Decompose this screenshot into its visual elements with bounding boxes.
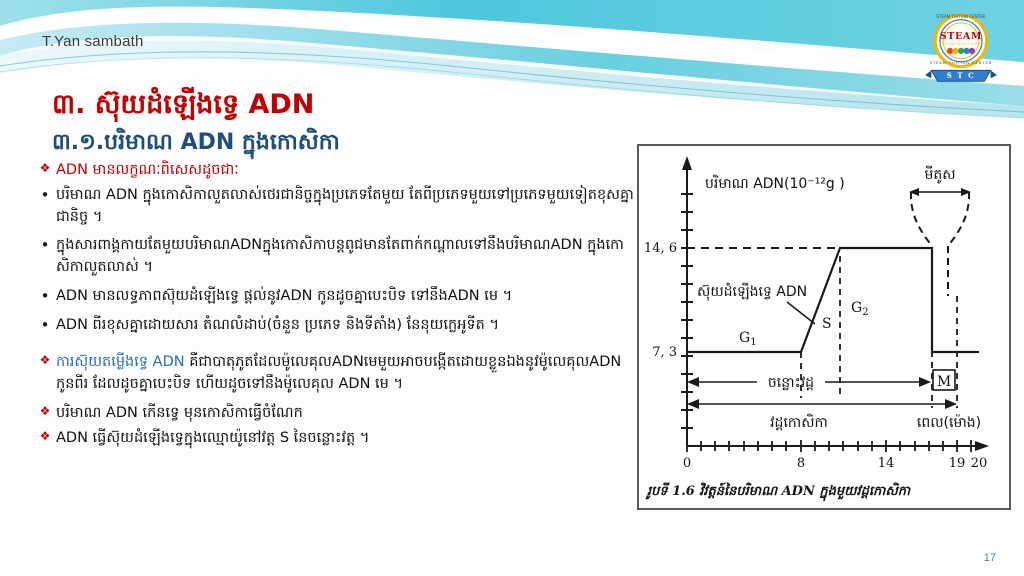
figure-panel: 0 8 14 19 20 14, 6 7, 3 បរិមាណ ADN(10⁻¹²… xyxy=(637,144,1011,510)
list-item: • បរិមាណ ADN ក្នុងកោសិកាលួតលាស់ថេរជានិច្… xyxy=(34,185,634,229)
mitosis-span-arrow xyxy=(909,188,971,196)
logo-banner-text: S T C xyxy=(947,71,976,80)
cell-cycle-arrow xyxy=(687,399,957,409)
logo-subject-dots xyxy=(947,48,975,54)
x-axis-ticks xyxy=(687,440,971,452)
page-subtitle: ៣.១.បរិមាណ ADN ក្នុងកោសិកា xyxy=(52,128,340,160)
logo-top-text: STEAM TUITION CENTER xyxy=(936,14,985,19)
x-tick-label: 20 xyxy=(971,456,988,471)
bullet-text: បរិមាណ ADN ក្នុងកោសិកាលួតលាស់ថេរជានិច្ចក… xyxy=(56,185,634,229)
diamond-bullet-icon: ❖ xyxy=(34,428,56,445)
dot-bullet-icon: • xyxy=(34,235,56,257)
g2-phase-label: G2 xyxy=(851,300,869,318)
mitosis-funnel xyxy=(911,192,969,296)
list-item: ❖ ការស៊ុយតម្លើងទ្វេ ADN គឺជាបាតុភូតដែលម៉… xyxy=(34,352,634,396)
author-name: T.Yan sambath xyxy=(42,33,144,50)
interphase-label: ចន្លោះវដ្ត xyxy=(768,375,814,391)
list-item: • ក្នុងសារពាង្គកាយតែមួយបរិមាណADNក្នុងកោស… xyxy=(34,235,634,279)
bullet-text: ក្នុងសារពាង្គកាយតែមួយបរិមាណADNក្នុងកោសិក… xyxy=(56,235,634,279)
bullet-text: បរិមាណ ADN កើនទ្វេ មុនកោសិកាធ្វើចំណែក xyxy=(56,403,634,425)
bullet-text: ADN ពីរខុសគ្នាដោយសារ តំណលំដាប់(ចំនួន ប្រ… xyxy=(56,315,634,337)
replication-label: ស៊ុយដំឡើងទ្វេ ADN xyxy=(697,282,807,301)
y-tick-label: 14, 6 xyxy=(644,241,677,256)
list-item: ❖ ADN មានលក្ខណៈពិសេសដូចជាៈ xyxy=(34,160,634,182)
mitosis-box-label: M xyxy=(937,374,951,390)
x-tick-label: 8 xyxy=(797,456,805,471)
adn-cell-cycle-chart: 0 8 14 19 20 14, 6 7, 3 បរិមាណ ADN(10⁻¹²… xyxy=(639,146,1009,508)
logo-center-text: STEAM xyxy=(940,31,982,42)
cell-cycle-label: វដ្តកោសិកា xyxy=(770,413,828,431)
chart-y-axis-title: បរិមាណ ADN(10⁻¹²g ) xyxy=(705,174,845,192)
section-spacer xyxy=(34,343,634,352)
x-tick-labels: 0 8 14 19 20 xyxy=(683,456,987,471)
diamond-bullet-icon: ❖ xyxy=(34,352,56,369)
dot-bullet-icon: • xyxy=(34,315,56,337)
figure-caption: រូបទី 1.6 វិវត្តន៍នៃបរិមាណ ADN ក្នុងមួយវ… xyxy=(647,483,1003,502)
replication-leader-line xyxy=(787,302,815,324)
y-tick-labels: 14, 6 7, 3 xyxy=(644,241,677,360)
list-item: ❖ ADN ធ្វើស៊ុយដំឡើងទ្វេក្នុងឈ្មោយ៉ូនៅវត្… xyxy=(34,428,634,450)
logo-tagline: Science Technology Engineering Art Mathe… xyxy=(931,43,991,46)
page-title: ៣. ស៊ុយដំឡើងទ្វេ ADN xyxy=(52,88,314,127)
adn-amount-curve xyxy=(687,248,979,352)
list-item: ❖ បរិមាណ ADN កើនទ្វេ មុនកោសិកាធ្វើចំណែក xyxy=(34,403,634,425)
x-axis-arrow xyxy=(975,441,989,451)
bullet-text-group: ការស៊ុយតម្លើងទ្វេ ADN គឺជាបាតុភូតដែលម៉ូល… xyxy=(56,352,634,396)
dot-bullet-icon: • xyxy=(34,286,56,308)
list-item: • ADN ពីរខុសគ្នាដោយសារ តំណលំដាប់(ចំនួន ប… xyxy=(34,315,634,337)
y-tick-label: 7, 3 xyxy=(652,345,677,360)
body-content: ❖ ADN មានលក្ខណៈពិសេសដូចជាៈ • បរិមាណ ADN … xyxy=(34,160,634,452)
slide-canvas: T.Yan sambath STEAM TUITION CENTER STEAM… xyxy=(0,0,1024,576)
logo-ring-bottom-text: STEAM TUITION CENTER xyxy=(930,61,992,65)
steam-tuition-center-logo: STEAM TUITION CENTER STEAM Science Techn… xyxy=(922,8,1000,86)
bullet-text: ADN មានលទ្ធភាពស៊ុយដំឡើងទ្វេ ផ្តល់នូវADN … xyxy=(56,286,634,308)
bullet-text-highlight: ការស៊ុយតម្លើងទ្វេ ADN xyxy=(56,354,185,370)
s-phase-label: S xyxy=(822,316,832,332)
mitosis-label: មីតូស xyxy=(924,165,955,184)
x-tick-label: 0 xyxy=(683,456,691,471)
time-axis-label: ពេល(ម៉ោង) xyxy=(917,414,981,431)
page-number: 17 xyxy=(984,552,996,564)
diamond-bullet-icon: ❖ xyxy=(34,160,56,177)
diamond-bullet-icon: ❖ xyxy=(34,403,56,420)
x-tick-label: 14 xyxy=(878,456,895,471)
x-tick-label: 19 xyxy=(949,456,966,471)
dot-bullet-icon: • xyxy=(34,185,56,207)
y-axis-arrow xyxy=(682,156,692,170)
g1-phase-label: G1 xyxy=(739,330,757,348)
bullet-text: ADN ធ្វើស៊ុយដំឡើងទ្វេក្នុងឈ្មោយ៉ូនៅវត្ត … xyxy=(56,428,634,450)
bullet-text: ADN មានលក្ខណៈពិសេសដូចជាៈ xyxy=(56,160,634,182)
list-item: • ADN មានលទ្ធភាពស៊ុយដំឡើងទ្វេ ផ្តល់នូវAD… xyxy=(34,286,634,308)
